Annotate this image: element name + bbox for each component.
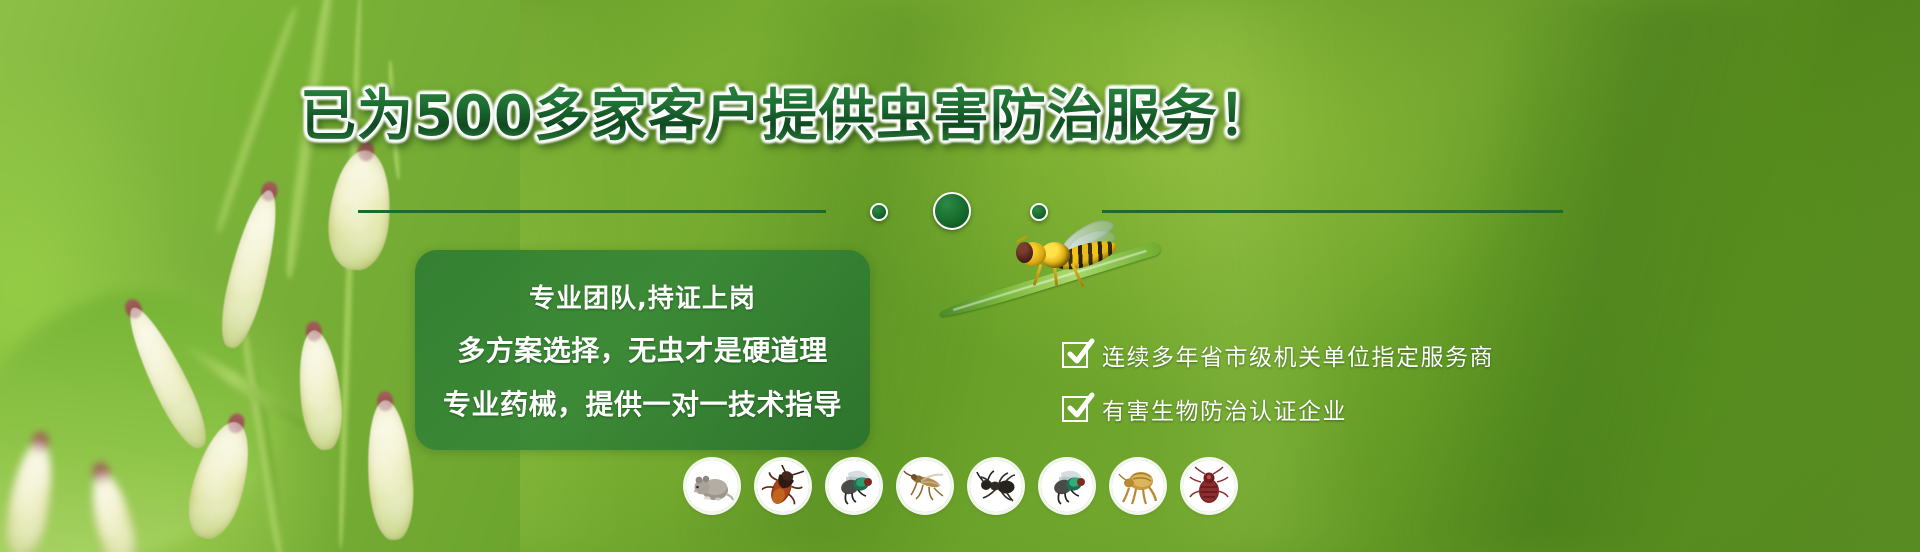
- feature-line-1: 专业团队,持证上岗: [529, 278, 756, 315]
- fly-icon[interactable]: 苍蝇: [828, 460, 880, 512]
- divider-rule-left: [358, 210, 826, 213]
- checklist-item: 连续多年省市级机关单位指定服务商: [1062, 338, 1494, 372]
- rodent-icon[interactable]: 鼠: [686, 460, 738, 512]
- checklist-item: 有害生物防治认证企业: [1062, 392, 1494, 426]
- ant-icon[interactable]: 蚂蚁: [970, 460, 1022, 512]
- feature-line-3: 专业药械，提供一对一技术指导: [443, 383, 842, 423]
- divider-dot-small-left: [870, 203, 888, 221]
- divider-dot-small-right: [1030, 203, 1048, 221]
- cockroach-icon[interactable]: 蟑螂: [757, 460, 809, 512]
- divider-dot-large: [933, 192, 971, 230]
- hoverfly-eye: [1016, 242, 1033, 263]
- hoverfly-icon: [1014, 230, 1124, 292]
- flea-icon[interactable]: 跳蚤: [1112, 460, 1164, 512]
- checklist-item-label: 有害生物防治认证企业: [1102, 392, 1347, 426]
- blowfly-icon[interactable]: 绿头苍蝇: [1041, 460, 1093, 512]
- decorative-divider: [358, 196, 1563, 228]
- pest-badge-row: 鼠 蟑螂: [686, 460, 1235, 512]
- banner-headline: 已为500多家客户提供虫害防治服务！: [300, 78, 1540, 144]
- mosquito-icon[interactable]: 蚊: [899, 460, 951, 512]
- hoverfly-leg: [1033, 264, 1043, 286]
- divider-rule-right: [1102, 210, 1563, 213]
- pest-control-hero-banner: 已为500多家客户提供虫害防治服务！ 专业团队,持证上岗 多方案选择，无虫才是硬…: [0, 0, 1920, 552]
- checkbox-checked-icon: [1062, 396, 1088, 422]
- credentials-checklist: 连续多年省市级机关单位指定服务商 有害生物防治认证企业: [1062, 338, 1494, 426]
- feature-highlight-box: 专业团队,持证上岗 多方案选择，无虫才是硬道理 专业药械，提供一对一技术指导: [415, 250, 870, 450]
- feature-line-2: 多方案选择，无虫才是硬道理: [457, 329, 828, 369]
- checklist-item-label: 连续多年省市级机关单位指定服务商: [1102, 338, 1494, 372]
- checkbox-checked-icon: [1062, 342, 1088, 368]
- bedbug-icon[interactable]: 臭虫: [1183, 460, 1235, 512]
